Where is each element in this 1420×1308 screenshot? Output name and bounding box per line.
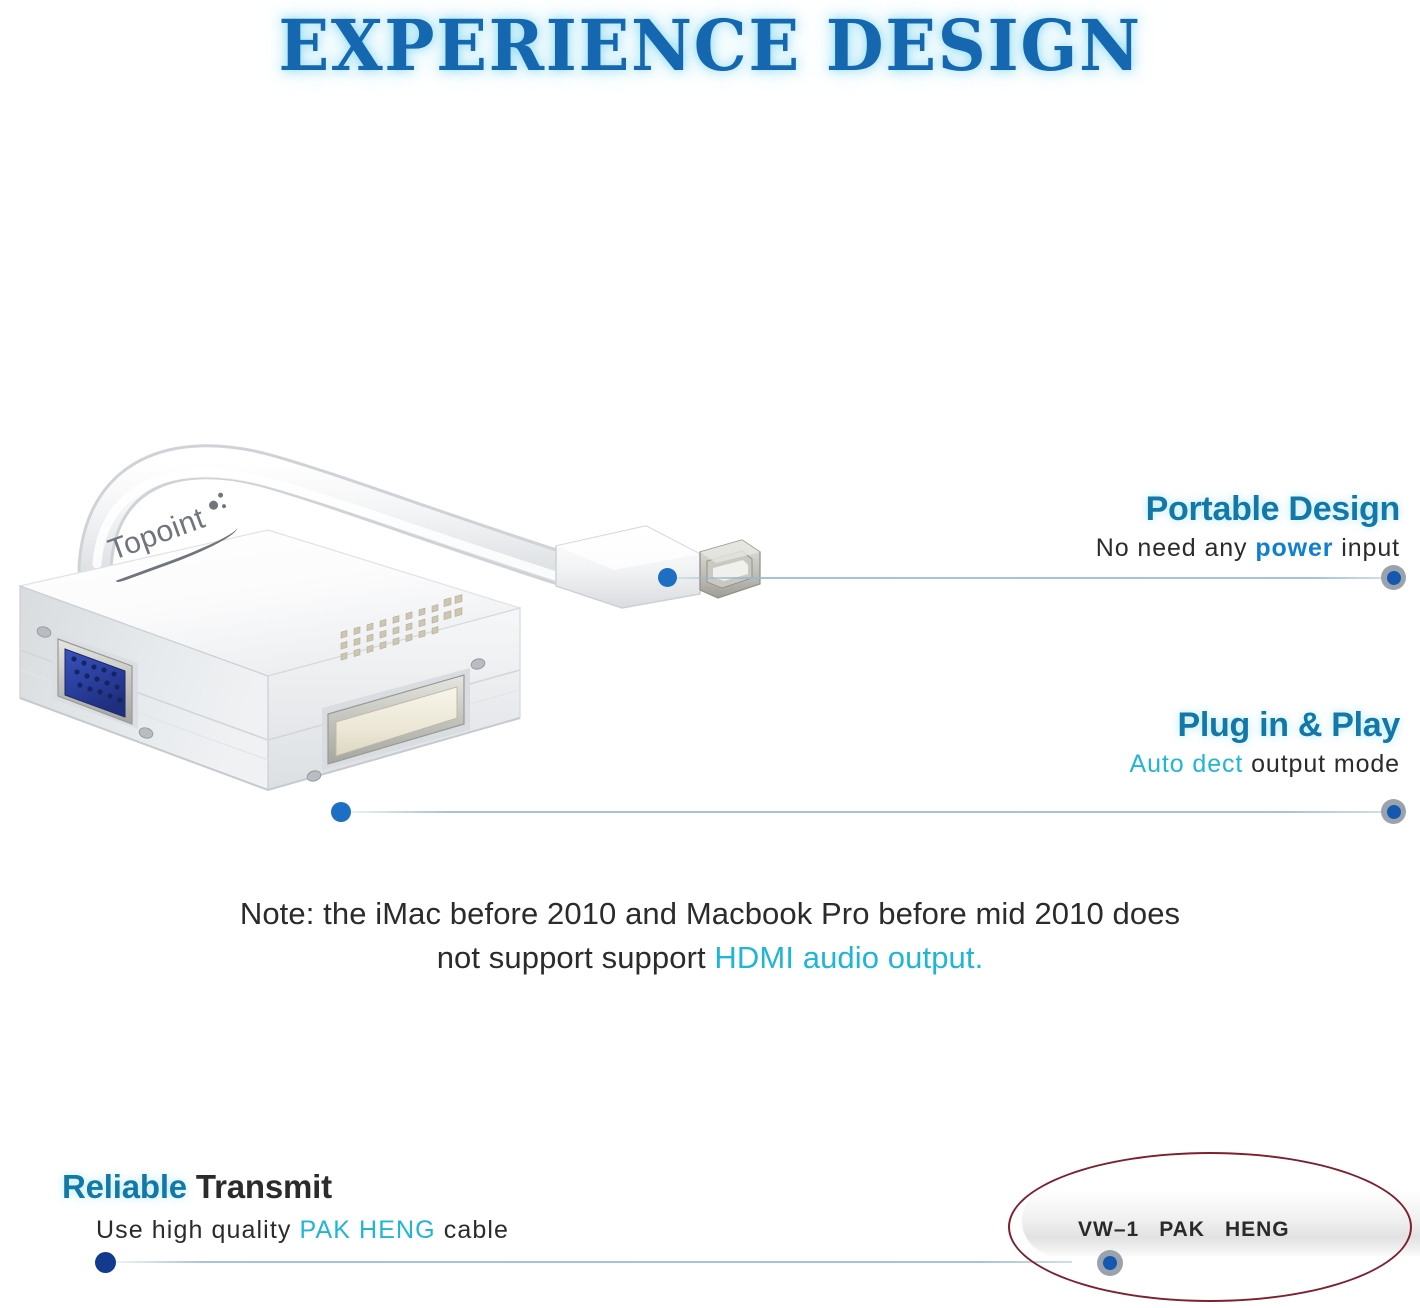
bottom-sub-highlight: PAK HENG [300,1216,436,1244]
anchor-dot-mini-displayport [658,568,677,587]
callout-sub-suffix: output mode [1243,750,1400,778]
callout-heading: Plug in & Play [700,708,1400,744]
bottom-heading-accent: Reliable [62,1168,187,1205]
callout-subtext: Auto dect output mode [700,751,1400,779]
bottom-subtext: Use high quality PAK HENG cable [96,1216,509,1245]
callout-portable-design: Portable Design No need any power input [700,492,1400,562]
infographic-canvas: EXPERIENCE DESIGN [0,0,1420,1308]
anchor-dot-dvi [331,802,351,822]
callout-sub-prefix: No need any [1096,534,1256,562]
callout-reliable-transmit: Reliable Transmit Use high quality PAK H… [62,1168,509,1245]
anchor-dot-reliable [95,1252,116,1273]
note-line-1: Note: the iMac before 2010 and Macbook P… [210,892,1210,936]
callout-subtext: No need any power input [700,535,1400,563]
lead-line-reliable [112,1261,1072,1263]
bottom-heading: Reliable Transmit [62,1168,509,1206]
bottom-heading-rest: Transmit [187,1168,332,1205]
page-title: EXPERIENCE DESIGN [0,4,1420,87]
highlight-ellipse [1008,1152,1412,1302]
bottom-sub-suffix: cable [436,1216,509,1244]
note-line-2: not support support HDMI audio output. [210,936,1210,980]
endpoint-dot-plug [1381,799,1406,824]
product-photo: Topoint [0,418,770,868]
bottom-sub-prefix: Use high quality [96,1216,300,1244]
adapter-illustration [0,418,770,868]
note-line-2-prefix: not support support [437,940,715,975]
callout-sub-suffix: input [1333,534,1400,562]
callout-sub-highlight: Auto dect [1130,750,1244,778]
lead-line-plug [344,811,1386,813]
endpoint-dot-cable [1097,1250,1123,1276]
lead-line-portable [668,577,1386,579]
note-line-2-highlight: HDMI audio output. [714,940,983,975]
callout-heading: Portable Design [700,492,1400,528]
endpoint-dot-portable [1381,565,1406,590]
callout-sub-highlight: power [1255,534,1333,562]
compatibility-note: Note: the iMac before 2010 and Macbook P… [210,892,1210,980]
callout-plug-in-play: Plug in & Play Auto dect output mode [700,708,1400,778]
